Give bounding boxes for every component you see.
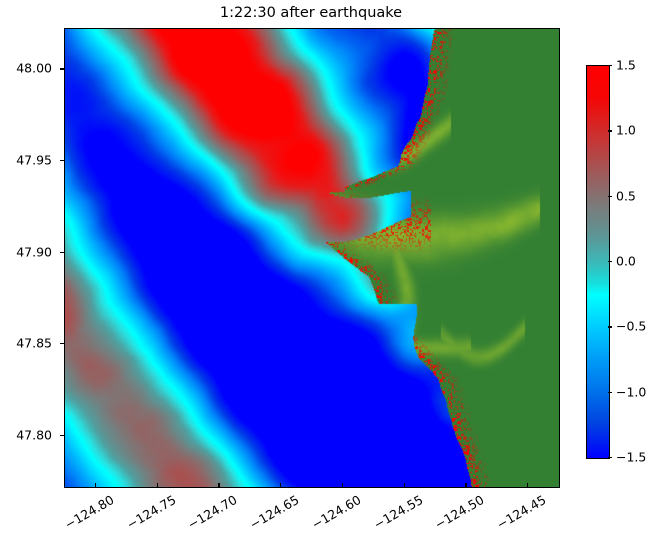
colorbar[interactable] [586, 65, 610, 459]
y-axis-tick-labels: 47.8047.8547.9047.9548.00 [0, 28, 52, 486]
x-tick-label: −124.45 [494, 492, 548, 532]
x-tick-label: −124.50 [432, 492, 486, 532]
colorbar-gradient [587, 66, 609, 458]
y-tick-label: 47.80 [16, 427, 52, 442]
x-axis-tick-labels: −124.80−124.75−124.70−124.65−124.60−124.… [64, 492, 558, 540]
y-tick-label: 48.00 [16, 61, 52, 76]
y-tick-label: 47.90 [16, 244, 52, 259]
x-tick-label: −124.60 [309, 492, 363, 532]
page-title: 1:22:30 after earthquake [64, 5, 558, 21]
colorbar-tick-label: 1.0 [616, 123, 636, 138]
colorbar-tick-label: 0.0 [616, 254, 636, 269]
colorbar-tick-label: 0.5 [616, 188, 636, 203]
figure-canvas: 1:22:30 after earthquake 47.8047.8547.90… [0, 0, 658, 541]
colorbar-tick-label: −1.5 [616, 450, 646, 465]
x-tick-label: −124.75 [124, 492, 178, 532]
map-axes[interactable] [64, 28, 560, 488]
x-tick-label: −124.55 [371, 492, 425, 532]
tsunami-heatmap [65, 29, 559, 487]
y-tick-label: 47.85 [16, 336, 52, 351]
x-tick-label: −124.70 [185, 492, 239, 532]
colorbar-tick-label: −1.0 [616, 384, 646, 399]
x-tick-label: −124.80 [62, 492, 116, 532]
colorbar-tick-label: −0.5 [616, 319, 646, 334]
colorbar-tick-label: 1.5 [616, 58, 636, 73]
x-tick-label: −124.65 [247, 492, 301, 532]
y-tick-label: 47.95 [16, 152, 52, 167]
